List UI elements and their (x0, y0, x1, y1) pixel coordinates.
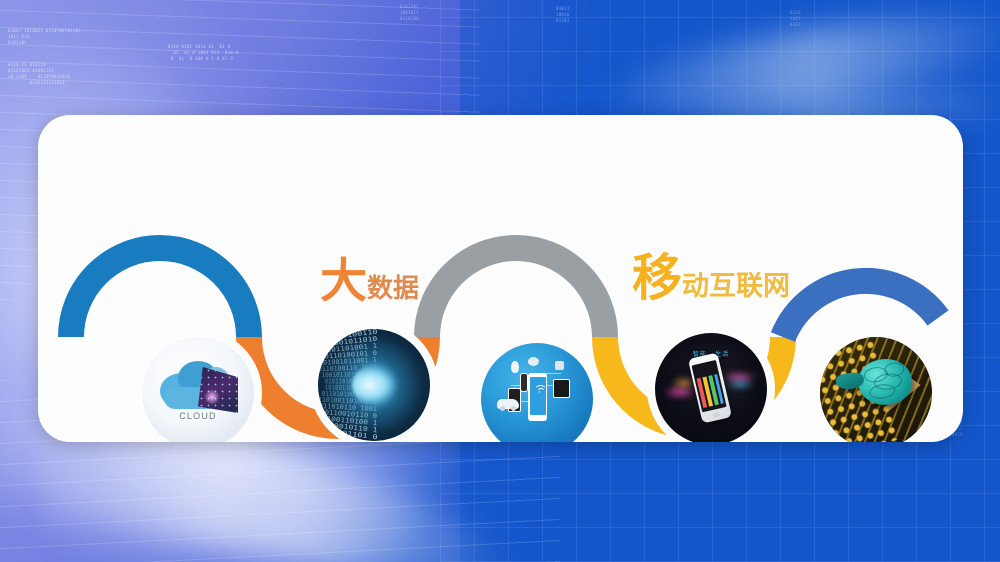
label-mobile-internet: 移动互联网 (632, 253, 790, 303)
label-big-data: 大数据 (320, 258, 419, 305)
background-code-text: 01001 1010011 0110100101101 1011 010 010… (8, 28, 81, 46)
infographic-stage: 01001 1010011 0110100101101 1011 010 010… (0, 0, 1000, 562)
node-artificial-intelligence[interactable] (820, 337, 932, 442)
brain-chip-icon (820, 337, 932, 442)
label-mobile-sub: 动互联网 (682, 271, 790, 302)
node-big-data[interactable]: 1011001101001100110 10010110101011001101… (318, 329, 430, 441)
connected-devices-icon (481, 343, 593, 442)
cloud-icon-caption: CLOUD (142, 411, 254, 421)
background-code-text: 0110 11 010110 01101001 01001101 10 1101… (8, 62, 70, 86)
content-card: CLOUD 1011001101001100110 10010110101011… (38, 115, 963, 442)
arc-cloud (71, 248, 249, 337)
node-internet-of-things[interactable] (481, 343, 593, 442)
label-big-data-sub: 数据 (367, 274, 419, 304)
background-code-text: 01011 10010 01101 (556, 6, 570, 24)
background-code-text: 0110 1001 0101 (790, 10, 801, 28)
background-code-text: 0101101 1001011 0110100 (400, 4, 419, 22)
node-mobile-internet[interactable]: 智能 · 生活 (655, 333, 767, 442)
smartphone-icon (688, 352, 732, 423)
node-cloud-computing[interactable]: CLOUD (142, 337, 254, 442)
label-mobile-main: 移 (632, 249, 682, 307)
cloud-chip-icon (158, 359, 238, 411)
label-big-data-main: 大 (320, 254, 367, 309)
arc-iot (427, 248, 605, 337)
background-code-text: 0110 0101 1010 01 01 0 01 01 0 1001 011 … (168, 44, 238, 62)
arc-ai (783, 281, 938, 337)
